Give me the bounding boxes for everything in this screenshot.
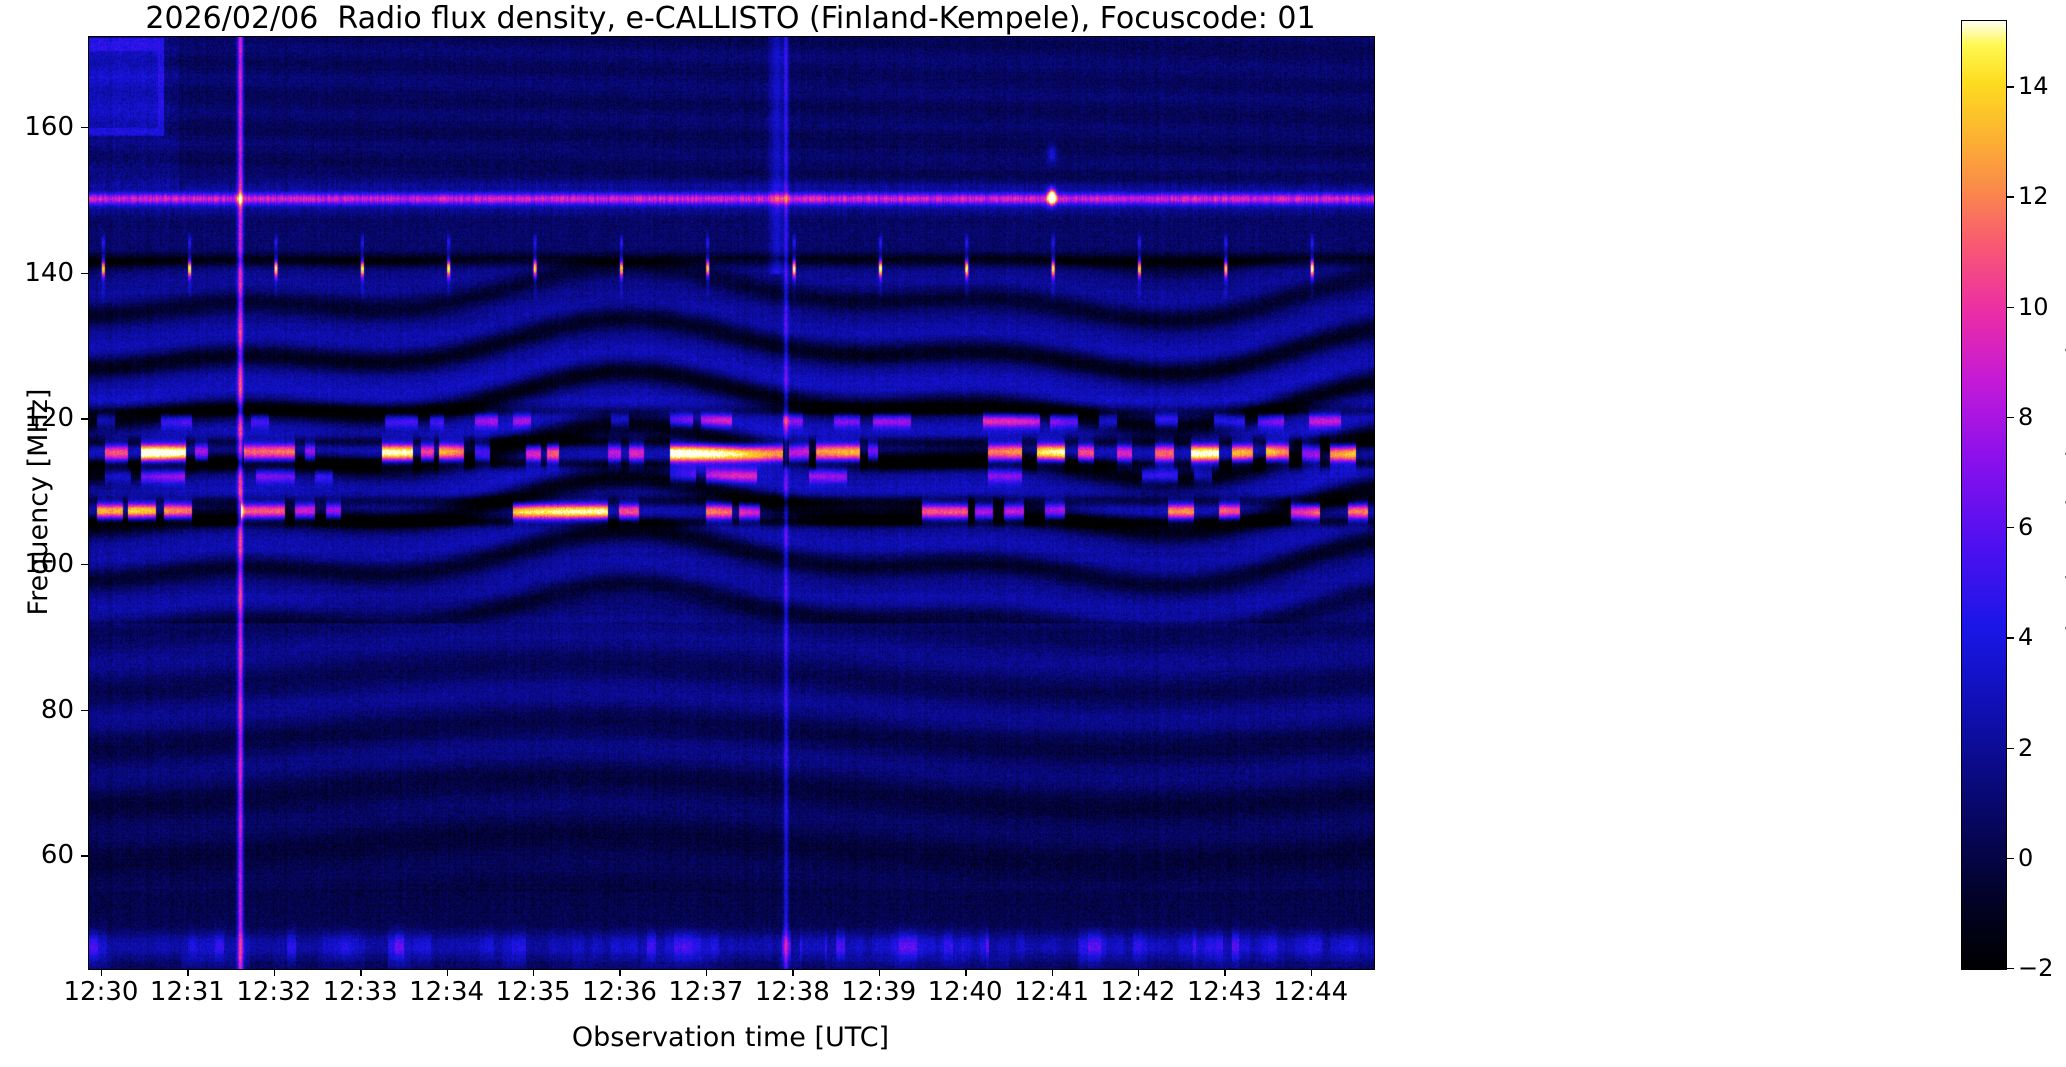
spectrogram-heatmap[interactable]: [89, 37, 1374, 969]
x-tick-mark: [792, 969, 793, 976]
colorbar-tick-label: 14: [2018, 74, 2066, 98]
x-tick-mark: [274, 969, 275, 976]
x-tick-mark: [1224, 969, 1225, 976]
y-tick-label: 140: [4, 260, 74, 286]
y-tick-mark: [81, 564, 88, 565]
y-tick-mark: [81, 710, 88, 711]
colorbar-tick-label: 6: [2018, 515, 2066, 539]
y-axis-label: Frequency [MHz]: [24, 36, 54, 968]
x-tick-mark: [1138, 969, 1139, 976]
colorbar-gradient: [1962, 21, 2006, 969]
colorbar-tick-label: 0: [2018, 846, 2066, 870]
y-tick-label: 80: [4, 697, 74, 723]
y-tick-mark: [81, 273, 88, 274]
x-tick-mark: [965, 969, 966, 976]
colorbar-tick-label: 12: [2018, 184, 2066, 208]
x-axis-label: Observation time [UTC]: [88, 1022, 1373, 1053]
x-tick-mark: [1311, 969, 1312, 976]
x-tick-mark: [879, 969, 880, 976]
spectrogram-plot-area[interactable]: [88, 36, 1375, 970]
colorbar-tick-label: −2: [2018, 956, 2066, 980]
x-tick-mark: [447, 969, 448, 976]
x-tick-mark: [533, 969, 534, 976]
colorbar: [1961, 20, 2007, 970]
y-tick-label: 120: [4, 405, 74, 431]
y-tick-mark: [81, 127, 88, 128]
spectrogram-figure: 2026/02/06 Radio flux density, e-CALLIST…: [0, 0, 2066, 1067]
colorbar-tick-label: 2: [2018, 736, 2066, 760]
x-tick-mark: [706, 969, 707, 976]
y-tick-label: 60: [4, 842, 74, 868]
colorbar-label: dB above background: [2062, 20, 2066, 968]
y-tick-label: 160: [4, 114, 74, 140]
colorbar-tick-mark: [2007, 637, 2014, 638]
colorbar-tick-label: 4: [2018, 625, 2066, 649]
colorbar-tick-mark: [2007, 858, 2014, 859]
colorbar-tick-mark: [2007, 417, 2014, 418]
colorbar-tick-mark: [2007, 307, 2014, 308]
colorbar-tick-mark: [2007, 527, 2014, 528]
colorbar-tick-mark: [2007, 748, 2014, 749]
x-tick-mark: [619, 969, 620, 976]
x-tick-label: 12:44: [1251, 978, 1371, 1006]
x-tick-mark: [1052, 969, 1053, 976]
colorbar-tick-label: 10: [2018, 295, 2066, 319]
colorbar-tick-label: 8: [2018, 405, 2066, 429]
colorbar-tick-mark: [2007, 86, 2014, 87]
y-tick-mark: [81, 855, 88, 856]
colorbar-tick-mark: [2007, 968, 2014, 969]
x-tick-mark: [360, 969, 361, 976]
y-tick-mark: [81, 418, 88, 419]
y-tick-label: 100: [4, 551, 74, 577]
x-tick-mark: [187, 969, 188, 976]
x-tick-mark: [101, 969, 102, 976]
colorbar-tick-mark: [2007, 196, 2014, 197]
page-title: 2026/02/06 Radio flux density, e-CALLIST…: [88, 2, 1373, 36]
